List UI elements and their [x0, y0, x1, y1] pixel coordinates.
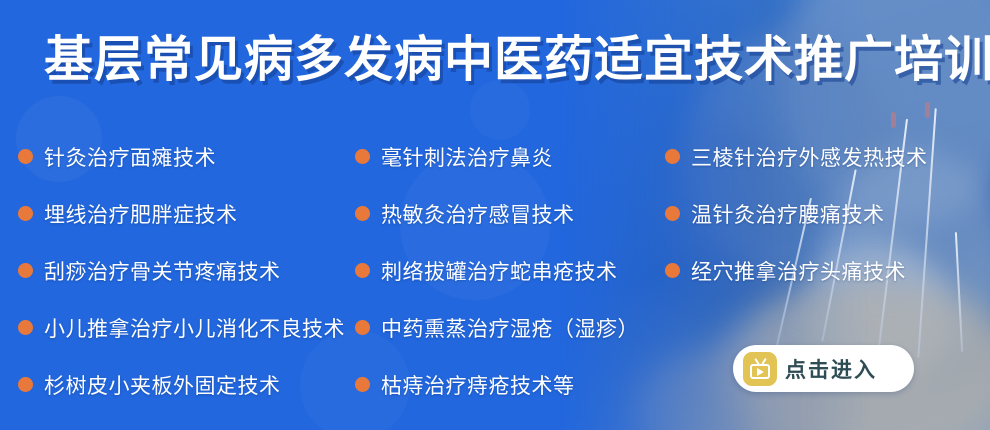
tv-play-icon: [743, 352, 777, 386]
bullet-dot-icon: [355, 320, 370, 335]
list-item-label: 埋线治疗肥胖症技术: [44, 199, 238, 229]
needle-handle: [925, 102, 930, 118]
bullet-dot-icon: [355, 206, 370, 221]
list-item[interactable]: 针灸治疗面瘫技术: [18, 128, 345, 185]
list-item-label: 小儿推拿治疗小儿消化不良技术: [44, 313, 345, 343]
list-item-label: 枯痔治疗痔疮技术等: [381, 370, 575, 400]
list-item[interactable]: 杉树皮小夹板外固定技术: [18, 356, 345, 413]
bullet-dot-icon: [18, 149, 33, 164]
list-item[interactable]: 热敏灸治疗感冒技术: [355, 185, 639, 242]
list-item-label: 杉树皮小夹板外固定技术: [44, 370, 281, 400]
technique-column-3: 三棱针治疗外感发热技术 温针灸治疗腰痛技术 经穴推拿治疗头痛技术: [665, 128, 928, 299]
list-item[interactable]: 三棱针治疗外感发热技术: [665, 128, 928, 185]
bullet-dot-icon: [355, 149, 370, 164]
list-item[interactable]: 经穴推拿治疗头痛技术: [665, 242, 928, 299]
technique-column-1: 针灸治疗面瘫技术 埋线治疗肥胖症技术 刮痧治疗骨关节疼痛技术 小儿推拿治疗小儿消…: [18, 128, 345, 413]
list-item-label: 中药熏蒸治疗湿疮（湿疹）: [381, 313, 639, 343]
list-item[interactable]: 温针灸治疗腰痛技术: [665, 185, 928, 242]
enter-button-label: 点击进入: [785, 354, 877, 384]
list-item[interactable]: 小儿推拿治疗小儿消化不良技术: [18, 299, 345, 356]
page-title: 基层常见病多发病中医药适宜技术推广培训: [44, 36, 990, 85]
list-item[interactable]: 刮痧治疗骨关节疼痛技术: [18, 242, 345, 299]
list-item[interactable]: 枯痔治疗痔疮技术等: [355, 356, 639, 413]
list-item-label: 温针灸治疗腰痛技术: [691, 199, 885, 229]
list-item[interactable]: 刺络拔罐治疗蛇串疮技术: [355, 242, 639, 299]
bullet-dot-icon: [18, 206, 33, 221]
bullet-dot-icon: [18, 320, 33, 335]
list-item-label: 针灸治疗面瘫技术: [44, 142, 216, 172]
promo-banner: 基层常见病多发病中医药适宜技术推广培训 针灸治疗面瘫技术 埋线治疗肥胖症技术 刮…: [0, 0, 990, 430]
list-item-label: 刺络拔罐治疗蛇串疮技术: [381, 256, 618, 286]
technique-column-2: 毫针刺法治疗鼻炎 热敏灸治疗感冒技术 刺络拔罐治疗蛇串疮技术 中药熏蒸治疗湿疮（…: [355, 128, 639, 413]
list-item-label: 热敏灸治疗感冒技术: [381, 199, 575, 229]
play-triangle-icon: [757, 368, 764, 376]
bullet-dot-icon: [18, 263, 33, 278]
list-item-label: 毫针刺法治疗鼻炎: [381, 142, 553, 172]
list-item[interactable]: 毫针刺法治疗鼻炎: [355, 128, 639, 185]
list-item-label: 经穴推拿治疗头痛技术: [691, 256, 906, 286]
bullet-dot-icon: [665, 263, 680, 278]
list-item-label: 三棱针治疗外感发热技术: [691, 142, 928, 172]
bullet-dot-icon: [665, 206, 680, 221]
bullet-dot-icon: [355, 263, 370, 278]
enter-button[interactable]: 点击进入: [733, 345, 914, 392]
bullet-dot-icon: [355, 377, 370, 392]
needle-handle: [891, 112, 896, 128]
list-item[interactable]: 埋线治疗肥胖症技术: [18, 185, 345, 242]
bullet-dot-icon: [665, 149, 680, 164]
list-item-label: 刮痧治疗骨关节疼痛技术: [44, 256, 281, 286]
list-item[interactable]: 中药熏蒸治疗湿疮（湿疹）: [355, 299, 639, 356]
bullet-dot-icon: [18, 377, 33, 392]
